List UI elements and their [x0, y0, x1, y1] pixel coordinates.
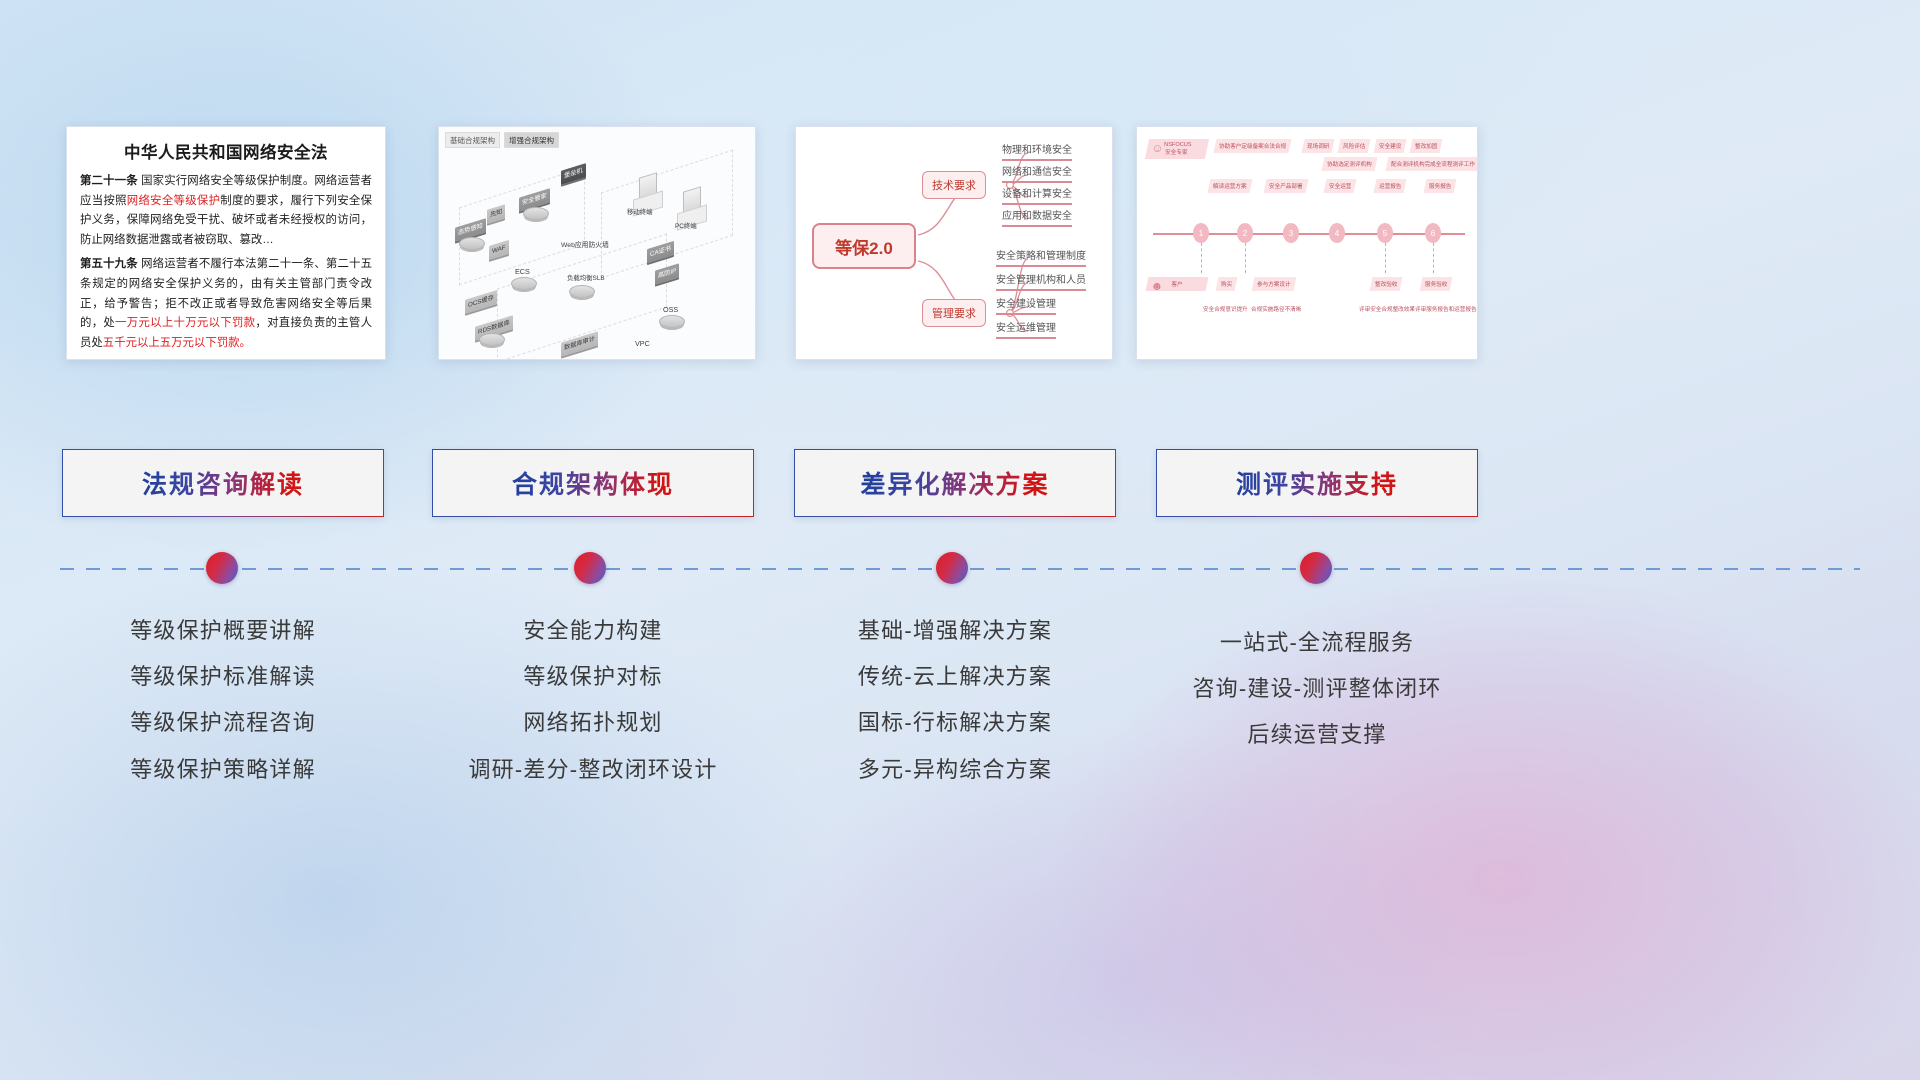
roadmap-top-chip-1: 协助客户定级备案合法合规 — [1214, 139, 1292, 153]
law-article-21-label: 第二十一条 — [80, 175, 138, 187]
law-article-21: 第二十一条 国家实行网络安全等级保护制度。网络运营者应当按照网络安全等级保护制度… — [80, 172, 372, 250]
arch-label-mobile: 移动终端 — [627, 207, 653, 216]
roadmap-mid-chip-4: 运营报告 — [1374, 179, 1407, 193]
roadmap-top-chip-3-label: 风险评估 — [1343, 142, 1365, 150]
poster-stage: 中华人民共和国网络安全法 第二十一条 国家实行网络安全等级保护制度。网络运营者应… — [0, 0, 1920, 1080]
arch-label-vpc: VPC — [635, 339, 650, 348]
law-article-59-label: 第五十九条 — [80, 258, 138, 270]
arch-puck-ecs — [511, 277, 537, 290]
pill-label-2: 合规架构体现 — [512, 465, 674, 501]
arch-label-ecs: ECS — [515, 267, 530, 276]
roadmap-bottom-chip-1: 购买 — [1216, 277, 1238, 291]
roadmap-tick-6 — [1433, 243, 1434, 273]
arch-puck-slb — [569, 285, 595, 298]
list-column-1: 等级保护概要讲解 等级保护标准解读 等级保护流程咨询 等级保护策略详解 — [62, 608, 384, 793]
roadmap-step-3: 3 — [1283, 223, 1299, 243]
roadmap-top-chip-7: 配合测评机构完成全流程测评工作 — [1386, 157, 1478, 171]
roadmap-top-chip-6: 协助选定测评机构 — [1322, 157, 1378, 171]
list-column-2: 安全能力构建 等级保护对标 网络拓扑规划 调研-差分-整改闭环设计 — [432, 608, 754, 793]
roadmap-bottom-chip-4-label: 服务验收 — [1425, 280, 1447, 288]
list-item: 等级保护标准解读 — [62, 654, 384, 700]
list-item: 传统-云上解决方案 — [794, 654, 1116, 700]
timeline-dot-4[interactable] — [1300, 552, 1332, 584]
roadmap-bottom-chip-1-label: 购买 — [1221, 280, 1232, 288]
roadmap-mid-chip-2: 安全产品部署 — [1264, 179, 1309, 193]
law-article-21-highlight: 网络安全等级保护 — [127, 195, 221, 207]
list-item: 基础-增强解决方案 — [794, 608, 1116, 654]
roadmap-bottom-chip-2: 参与方案设计 — [1252, 277, 1297, 291]
list-column-3: 基础-增强解决方案 传统-云上解决方案 国标-行标解决方案 多元-异构综合方案 — [794, 608, 1116, 793]
list-item: 等级保护对标 — [432, 654, 754, 700]
pill-button-assessment-support[interactable]: 测评实施支持 — [1156, 449, 1478, 517]
pill-button-compliance-architecture[interactable]: 合规架构体现 — [432, 449, 754, 517]
card-assessment-roadmap[interactable]: ☺ NSFOCUS 安全专家 协助客户定级备案合法合规 现场调研 风险评估 安全… — [1136, 126, 1478, 360]
mindmap-branch-management: 管理要求 — [922, 299, 986, 327]
architecture-tabs[interactable]: 基础合规架构 增强合规架构 — [445, 132, 559, 148]
list-item: 安全能力构建 — [432, 608, 754, 654]
mindmap-leaf-ops: 安全运维管理 — [996, 319, 1056, 339]
roadmap-bottom-chip-3-label: 整改验收 — [1375, 280, 1397, 288]
roadmap-mid-chip-1-label: 解读运营方案 — [1213, 182, 1247, 190]
roadmap-bottom-chip-3: 整改验收 — [1370, 277, 1403, 291]
roadmap-top-chip-2-label: 现场调研 — [1307, 142, 1329, 150]
roadmap-mid-chip-4-label: 运营报告 — [1379, 182, 1401, 190]
roadmap-bottom-chip-4: 服务验收 — [1420, 277, 1453, 291]
mindmap-leaf-build: 安全建设管理 — [996, 295, 1056, 315]
roadmap-customer-role: 客户 — [1151, 280, 1203, 288]
timeline-dot-2[interactable] — [574, 552, 606, 584]
pill-button-regulation-consulting[interactable]: 法规咨询解读 — [62, 449, 384, 517]
mindmap-leaf-org: 安全管理机构和人员 — [996, 271, 1086, 291]
timeline-dot-1[interactable] — [206, 552, 238, 584]
mindmap-branch-technical: 技术要求 — [922, 171, 986, 199]
list-column-4: 一站式-全流程服务 咨询-建设-测评整体闭环 后续运营支撑 — [1156, 620, 1478, 759]
roadmap-step-5: 5 — [1377, 223, 1393, 243]
roadmap-step-2: 2 — [1237, 223, 1253, 243]
pill-label-3: 差异化解决方案 — [860, 465, 1049, 501]
mindmap-leaf-application: 应用和数据安全 — [1002, 207, 1072, 227]
roadmap-mid-chip-5: 服务报告 — [1424, 179, 1457, 193]
law-article-59-highlight-2: 五千元以上五万元以下罚款。 — [103, 337, 251, 349]
list-item: 多元-异构综合方案 — [794, 747, 1116, 793]
arch-puck-oss — [659, 315, 685, 328]
roadmap-step-4: 4 — [1329, 223, 1345, 243]
arch-label-waf: Web应用防火墙 — [561, 239, 609, 249]
roadmap-top-chip-3: 风险评估 — [1338, 139, 1371, 153]
list-item: 后续运营支撑 — [1156, 712, 1478, 758]
pill-button-differentiated-solution[interactable]: 差异化解决方案 — [794, 449, 1116, 517]
roadmap-mid-chip-3-label: 安全运营 — [1329, 182, 1351, 190]
card-compliance-architecture[interactable]: 基础合规架构 增强合规架构 堡垒机 安全管家 先知 态势感知 移动终端 PC终端… — [438, 126, 756, 360]
arch-tab-basic[interactable]: 基础合规架构 — [445, 132, 500, 148]
arch-label-slb: 负载均衡SLB — [567, 273, 605, 282]
pill-label-4: 测评实施支持 — [1236, 465, 1398, 501]
roadmap-caption-1: 安全合规意识提升 — [1203, 305, 1248, 313]
roadmap-tick-1 — [1201, 243, 1202, 273]
roadmap-step-6: 6 — [1425, 223, 1441, 243]
arch-node-ocs: OCS缓存 — [465, 290, 497, 314]
roadmap-mid-chip-3: 安全运营 — [1324, 179, 1357, 193]
roadmap-caption-3: 评审安全合规整改效果 — [1359, 305, 1415, 313]
arch-label-oss: OSS — [663, 305, 678, 314]
roadmap-top-chip-7-label: 配合测评机构完成全流程测评工作 — [1391, 160, 1475, 168]
roadmap-step-1: 1 — [1193, 223, 1209, 243]
law-article-59: 第五十九条 网络运营者不履行本法第二十一条、第二十五条规定的网络安全保护义务的，… — [80, 255, 372, 353]
timeline-dot-3[interactable] — [936, 552, 968, 584]
list-item: 等级保护概要讲解 — [62, 608, 384, 654]
mindmap-leaf-physical: 物理和环境安全 — [1002, 141, 1072, 161]
roadmap-top-chip-4-label: 安全建设 — [1379, 142, 1401, 150]
roadmap-customer-chip: ☻ 客户 — [1146, 277, 1209, 291]
roadmap-expert-role: 安全专家 — [1150, 148, 1202, 156]
roadmap-tick-2 — [1245, 243, 1246, 273]
list-item: 调研-差分-整改闭环设计 — [432, 747, 754, 793]
roadmap-mid-chip-5-label: 服务报告 — [1429, 182, 1451, 190]
roadmap-caption-4: 评审服务报告和运营报告 — [1415, 305, 1477, 313]
roadmap-mid-chip-2-label: 安全产品部署 — [1269, 182, 1303, 190]
mindmap-leaf-policy: 安全策略和管理制度 — [996, 247, 1086, 267]
roadmap-expert-chip: ☺ NSFOCUS 安全专家 — [1145, 139, 1209, 159]
roadmap-mid-chip-1: 解读运营方案 — [1208, 179, 1253, 193]
roadmap-top-chip-4: 安全建设 — [1374, 139, 1407, 153]
pill-label-1: 法规咨询解读 — [142, 465, 304, 501]
list-item: 等级保护策略详解 — [62, 747, 384, 793]
arch-puck-butler — [523, 207, 549, 220]
list-item: 国标-行标解决方案 — [794, 700, 1116, 746]
list-item: 网络拓扑规划 — [432, 700, 754, 746]
roadmap-top-chip-5-label: 整改加固 — [1415, 142, 1437, 150]
roadmap-tick-5 — [1385, 243, 1386, 273]
law-title: 中华人民共和国网络安全法 — [80, 139, 372, 163]
roadmap-top-chip-6-label: 协助选定测评机构 — [1327, 160, 1372, 168]
arch-puck-situation — [459, 237, 485, 250]
card-cybersecurity-law[interactable]: 中华人民共和国网络安全法 第二十一条 国家实行网络安全等级保护制度。网络运营者应… — [66, 126, 386, 360]
arch-puck-rds — [479, 333, 505, 346]
mindmap-leaf-network: 网络和通信安全 — [1002, 163, 1072, 183]
roadmap-top-chip-2: 现场调研 — [1302, 139, 1335, 153]
roadmap-bottom-chip-2-label: 参与方案设计 — [1257, 280, 1291, 288]
list-item: 咨询-建设-测评整体闭环 — [1156, 666, 1478, 712]
roadmap-top-chip-1-label: 协助客户定级备案合法合规 — [1219, 142, 1286, 150]
list-item: 一站式-全流程服务 — [1156, 620, 1478, 666]
arch-tab-enhanced[interactable]: 增强合规架构 — [504, 132, 559, 148]
card-dengbao-mindmap[interactable]: 等保2.0 技术要求 管理要求 物理和环境安全 网络和通信安全 设备和计算安全 … — [795, 126, 1113, 360]
roadmap-top-chip-5: 整改加固 — [1410, 139, 1443, 153]
mindmap-leaf-device: 设备和计算安全 — [1002, 185, 1072, 205]
architecture-canvas: 堡垒机 安全管家 先知 态势感知 移动终端 PC终端 WAF Web应用防火墙 … — [445, 145, 749, 353]
law-article-59-highlight-1: 一万元以上十万元以下罚款 — [115, 317, 255, 329]
list-item: 等级保护流程咨询 — [62, 700, 384, 746]
roadmap-caption-2: 合规实施路径不清晰 — [1251, 305, 1301, 313]
arch-label-pc: PC终端 — [675, 221, 697, 230]
